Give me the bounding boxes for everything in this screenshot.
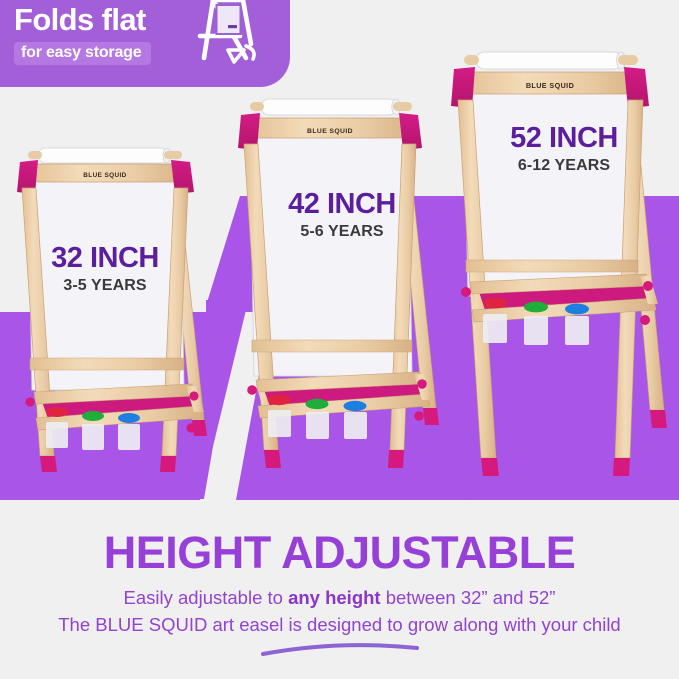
paint-cups-32 <box>46 407 140 450</box>
folds-flat-badge: Folds flat for easy storage <box>0 0 290 87</box>
subline-1-pre: Easily adjustable to <box>124 587 289 608</box>
paint-cups-42 <box>268 395 368 439</box>
easel-42-inch: BLUE SQUID <box>228 90 450 500</box>
underline-swoosh-icon <box>260 643 420 657</box>
callout-years-52: 6-12 YEARS <box>476 158 652 174</box>
callout-inch-52: 52 INCH <box>476 124 652 153</box>
callout-years-32: 3-5 YEARS <box>30 278 180 294</box>
callout-32: 32 INCH 3-5 YEARS <box>30 244 180 294</box>
brand-logo-text-32: BLUE SQUID <box>83 172 126 179</box>
brand-logo-text-52: BLUE SQUID <box>526 81 574 90</box>
easel-52-inch: BLUE SQUID <box>440 44 678 514</box>
callout-52: 52 INCH 6-12 YEARS <box>476 124 652 174</box>
subline-1-post: between 32” and 52” <box>381 587 556 608</box>
folding-easel-icon <box>192 0 266 68</box>
brand-logo-text-42: BLUE SQUID <box>307 128 353 135</box>
callout-inch-32: 32 INCH <box>30 244 180 273</box>
callout-42: 42 INCH 5-6 YEARS <box>262 190 422 240</box>
easel-32-inch: BLUE SQUID <box>8 140 220 500</box>
badge-subtitle: for easy storage <box>14 42 151 65</box>
subline-1: Easily adjustable to any height between … <box>0 585 679 611</box>
subline-1-bold: any height <box>288 587 381 608</box>
callout-inch-42: 42 INCH <box>262 190 422 219</box>
product-image-canvas: Folds flat for easy storage <box>0 0 679 679</box>
subline-2: The BLUE SQUID art easel is designed to … <box>0 612 679 638</box>
bottom-copy-block: HEIGHT ADJUSTABLE Easily adjustable to a… <box>0 530 679 657</box>
callout-years-42: 5-6 YEARS <box>262 224 422 240</box>
paint-cups-52 <box>483 298 589 345</box>
page-headline: HEIGHT ADJUSTABLE <box>0 530 679 575</box>
